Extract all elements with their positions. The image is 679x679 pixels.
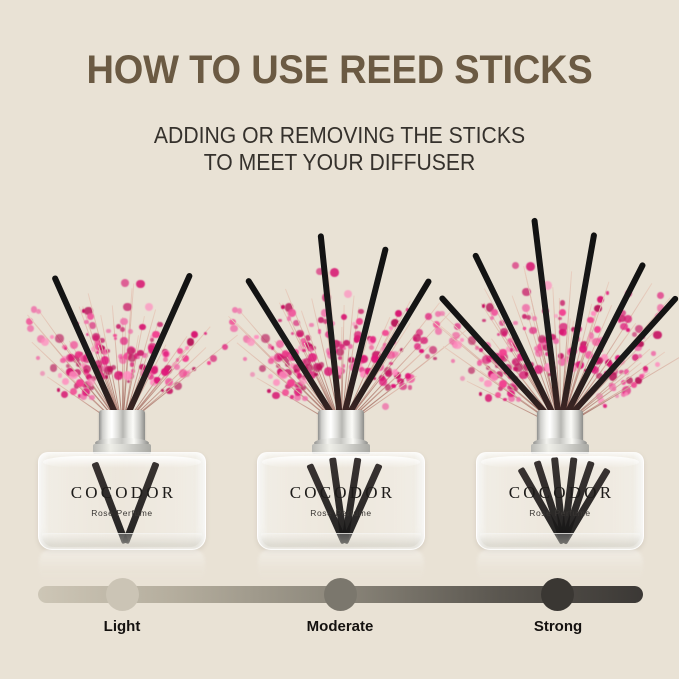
flower-bloom xyxy=(526,315,531,320)
flower-bloom xyxy=(468,367,475,374)
reed-arrangement-light xyxy=(14,198,230,428)
flower-bloom xyxy=(105,375,109,379)
intensity-label-strong: Strong xyxy=(488,618,628,635)
flower-bloom xyxy=(161,368,169,376)
flower-bloom xyxy=(237,308,242,313)
flower-bloom xyxy=(587,317,594,324)
flower-bloom xyxy=(243,357,247,361)
flower-bloom xyxy=(490,373,498,381)
flower-bloom xyxy=(70,341,78,349)
flower-bloom xyxy=(591,311,596,316)
infographic-page: HOW TO USE REED STICKS ADDING OR REMOVIN… xyxy=(0,0,679,679)
flower-bloom xyxy=(302,396,307,401)
flower-bloom xyxy=(529,327,536,334)
bottle-variant-label: Rose Perfume xyxy=(477,508,643,518)
flower-bloom xyxy=(482,319,486,323)
flower-bloom xyxy=(559,309,566,316)
flower-bloom xyxy=(50,335,54,339)
flower-bloom xyxy=(40,371,45,376)
diffuser-bottle: COCODOR Rose Perfume xyxy=(452,408,668,568)
flower-bloom xyxy=(174,364,180,370)
flower-bloom xyxy=(330,268,339,277)
bottle-brand-label: COCODOR xyxy=(258,483,424,503)
flower-bloom xyxy=(204,332,207,335)
flower-bloom xyxy=(491,309,498,316)
flower-bloom xyxy=(272,392,279,399)
flower-bloom xyxy=(369,345,374,350)
flower-bloom xyxy=(282,389,289,396)
flower-bloom xyxy=(314,373,318,377)
page-subtitle: ADDING OR REMOVING THE STICKS TO MEET YO… xyxy=(27,122,652,176)
flower-bloom xyxy=(120,327,125,332)
flower-bloom xyxy=(626,328,630,332)
flower-bloom xyxy=(62,345,66,349)
flower-bloom xyxy=(631,382,637,388)
flower-bloom xyxy=(419,349,423,353)
flower-bloom xyxy=(420,337,428,345)
diffuser-comparison: COCODOR Rose Perfume xyxy=(0,198,679,568)
flower-bloom xyxy=(624,315,632,323)
flower-bloom xyxy=(313,363,322,372)
flower-bloom xyxy=(341,314,347,320)
flower-bloom xyxy=(145,303,153,311)
subtitle-line-2: TO MEET YOUR DIFFUSER xyxy=(27,149,652,176)
flower-bloom xyxy=(301,386,305,390)
flower-cluster-light xyxy=(14,198,230,428)
flower-bloom xyxy=(485,394,492,401)
flower-bloom xyxy=(389,362,393,366)
bottle-glass: COCODOR Rose Perfume xyxy=(38,452,206,550)
flower-bloom xyxy=(512,262,520,270)
flower-bloom xyxy=(408,385,413,390)
flower-bloom xyxy=(279,371,287,379)
flower-bloom xyxy=(247,338,255,346)
flower-bloom xyxy=(653,331,661,339)
glass-highlight xyxy=(481,456,639,468)
flower-bloom xyxy=(606,291,609,294)
flower-bloom xyxy=(62,378,69,385)
flower-bloom xyxy=(27,325,34,332)
flower-bloom xyxy=(559,329,564,334)
reed-arrangement-strong xyxy=(452,198,668,428)
flower-bloom xyxy=(250,372,255,377)
flower-bloom xyxy=(655,362,660,367)
bottle-variant-label: Rose Perfume xyxy=(258,508,424,518)
flower-bloom xyxy=(290,395,293,398)
diffuser-light: COCODOR Rose Perfume xyxy=(14,198,230,568)
flower-bloom xyxy=(499,349,506,356)
flower-bloom xyxy=(651,351,656,356)
bottle-brand-label: COCODOR xyxy=(477,483,643,503)
flower-bloom xyxy=(50,364,57,371)
flower-bloom xyxy=(475,346,479,350)
bottle-variant-label: Rose Perfume xyxy=(39,508,205,518)
flower-bloom xyxy=(55,334,64,343)
intensity-dot-moderate[interactable] xyxy=(324,578,357,611)
diffuser-moderate: COCODOR Rose Perfume xyxy=(233,198,449,568)
flower-bloom xyxy=(356,318,363,325)
flower-bloom xyxy=(222,344,228,350)
flower-bloom xyxy=(207,361,211,365)
flower-bloom xyxy=(104,366,113,375)
flower-bloom xyxy=(87,313,94,320)
flower-bloom xyxy=(101,356,110,365)
flower-bloom xyxy=(281,305,285,309)
bottle-glass: COCODOR Rose Perfume xyxy=(476,452,644,550)
intensity-dot-strong[interactable] xyxy=(541,578,574,611)
flower-bloom xyxy=(61,391,68,398)
glass-base xyxy=(42,533,202,547)
flower-bloom xyxy=(484,380,491,387)
flower-bloom xyxy=(106,329,110,333)
flower-bloom xyxy=(288,309,295,316)
flower-bloom xyxy=(114,337,117,340)
flower-bloom xyxy=(344,290,352,298)
flower-bloom xyxy=(89,386,93,390)
flower-bloom xyxy=(296,330,304,338)
bottle-brand-label: COCODOR xyxy=(39,483,205,503)
flower-bloom xyxy=(379,377,387,385)
reed-arrangement-moderate xyxy=(233,198,449,428)
flower-bloom xyxy=(70,388,77,395)
flower-bloom xyxy=(191,331,198,338)
flower-bloom xyxy=(254,335,258,339)
flower-bloom xyxy=(500,328,508,336)
flower-bloom xyxy=(114,371,123,380)
flower-bloom xyxy=(259,365,266,372)
flower-bloom xyxy=(526,262,535,271)
flower-bloom xyxy=(309,323,313,327)
flower-bloom xyxy=(308,353,317,362)
flower-bloom xyxy=(41,338,49,346)
flower-bloom xyxy=(278,319,282,323)
flower-bloom xyxy=(370,336,376,342)
flower-bloom xyxy=(460,376,465,381)
flower-bloom xyxy=(69,371,77,379)
flower-bloom xyxy=(268,374,273,379)
diffuser-bottle: COCODOR Rose Perfume xyxy=(14,408,230,568)
flower-bloom xyxy=(137,350,144,357)
flower-bloom xyxy=(121,279,129,287)
intensity-label-moderate: Moderate xyxy=(270,618,410,635)
flower-bloom xyxy=(343,347,346,350)
flower-bloom xyxy=(128,329,133,334)
flower-bloom xyxy=(60,358,65,363)
subtitle-line-1: ADDING OR REMOVING THE STICKS xyxy=(27,122,652,149)
flower-bloom xyxy=(318,331,321,334)
diffuser-bottle: COCODOR Rose Perfume xyxy=(233,408,449,568)
flower-bloom xyxy=(638,354,642,358)
flower-bloom xyxy=(268,344,272,348)
flower-bloom xyxy=(624,392,628,396)
flower-bloom xyxy=(302,349,305,352)
flower-bloom xyxy=(139,324,145,330)
flower-bloom xyxy=(136,280,145,289)
flower-bloom xyxy=(87,378,95,386)
flower-bloom xyxy=(268,358,273,363)
flower-bloom xyxy=(479,348,482,351)
flower-bloom xyxy=(157,322,163,328)
flower-bloom xyxy=(58,373,63,378)
intensity-scale: Light Moderate Strong xyxy=(0,572,679,642)
glass-base xyxy=(480,533,640,547)
flower-bloom xyxy=(273,379,280,386)
flower-bloom xyxy=(150,338,154,342)
flower-bloom xyxy=(513,321,517,325)
flower-bloom xyxy=(503,398,506,401)
diffuser-strong: COCODOR Rose Perfume xyxy=(452,198,668,568)
flower-bloom xyxy=(287,316,291,320)
flower-bloom xyxy=(120,337,127,344)
flower-bloom xyxy=(639,374,644,379)
flower-bloom xyxy=(560,300,566,306)
flower-bloom xyxy=(84,320,88,324)
flower-bloom xyxy=(57,388,61,392)
flower-bloom xyxy=(391,384,396,389)
flower-bloom xyxy=(451,359,455,363)
glass-highlight xyxy=(262,456,420,468)
flower-bloom xyxy=(36,356,40,360)
flower-bloom xyxy=(354,325,358,329)
flower-bloom xyxy=(657,292,664,299)
flower-bloom xyxy=(261,334,270,343)
flower-bloom xyxy=(522,304,530,312)
intensity-label-light: Light xyxy=(52,618,192,635)
flower-bloom xyxy=(453,341,461,349)
flower-bloom xyxy=(89,395,94,400)
flower-cluster-strong xyxy=(452,198,668,428)
glass-base xyxy=(261,533,421,547)
flower-bloom xyxy=(210,355,217,362)
flower-bloom xyxy=(479,377,484,382)
flower-bloom xyxy=(558,317,562,321)
intensity-dot-light[interactable] xyxy=(106,578,139,611)
flower-bloom xyxy=(433,357,437,361)
flower-bloom xyxy=(137,356,140,359)
page-title: HOW TO USE REED STICKS xyxy=(17,48,662,93)
flower-bloom xyxy=(120,318,128,326)
flower-bloom xyxy=(439,311,444,316)
flower-bloom xyxy=(267,389,271,393)
flower-bloom xyxy=(358,309,364,315)
flower-bloom xyxy=(479,392,483,396)
glass-highlight xyxy=(43,456,201,468)
flower-bloom xyxy=(510,348,513,351)
bottle-glass: COCODOR Rose Perfume xyxy=(257,452,425,550)
flower-bloom xyxy=(525,372,529,376)
